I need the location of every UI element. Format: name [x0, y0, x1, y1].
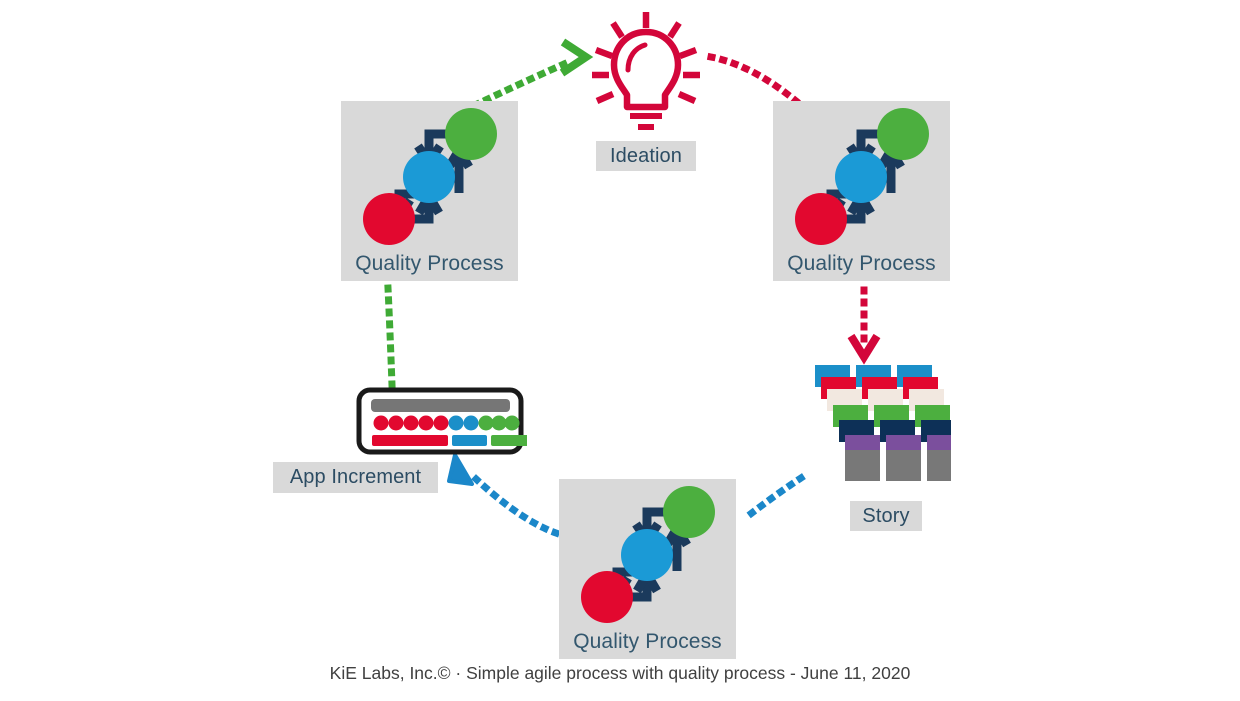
bulb-highlight [628, 45, 645, 70]
story-label: Story [850, 501, 922, 531]
quality-process-left-label: Quality Process [341, 247, 518, 281]
ray-bottom-right [679, 94, 695, 101]
node-app-increment[interactable]: App Increment [355, 386, 527, 496]
node-quality-process-right[interactable]: Quality Process [773, 101, 950, 281]
app-increment-top-bar [371, 399, 510, 412]
ray-right [680, 50, 696, 56]
story-stack-icon [806, 361, 951, 491]
connector-app-increment-to-quality-process-left [388, 288, 392, 385]
connector-quality-process-right-to-story [851, 290, 877, 357]
ideation-label: Ideation [596, 141, 696, 171]
red-circle [795, 193, 847, 245]
node-quality-process-bottom[interactable]: Quality Process [559, 479, 736, 659]
ray-top-left [613, 23, 622, 37]
node-ideation[interactable]: Ideation [586, 8, 706, 173]
lightbulb-icon [586, 8, 706, 138]
ray-top-right [670, 23, 679, 37]
blue-circle [621, 529, 673, 581]
story-row-gray [845, 450, 951, 481]
quality-process-icon [341, 101, 518, 251]
green-circle [663, 486, 715, 538]
blue-circle [835, 151, 887, 203]
red-circle [363, 193, 415, 245]
diagram-canvas: Quality Process Quality Process [0, 0, 1240, 701]
green-circle [877, 108, 929, 160]
quality-process-icon [773, 101, 950, 251]
connector-ideation-to-quality-process-right [711, 57, 796, 101]
node-quality-process-left[interactable]: Quality Process [341, 101, 518, 281]
app-increment-icon [355, 386, 527, 458]
app-increment-label: App Increment [273, 462, 438, 493]
quality-process-right-label: Quality Process [773, 247, 950, 281]
quality-process-bottom-label: Quality Process [559, 625, 736, 659]
green-circle [445, 108, 497, 160]
node-story[interactable]: Story [806, 361, 951, 536]
ray-left [596, 50, 612, 56]
quality-process-icon [559, 479, 736, 629]
red-circle [581, 571, 633, 623]
blue-circle [403, 151, 455, 203]
connector-story-to-quality-process-bottom [744, 478, 801, 519]
diagram-caption: KiE Labs, Inc.© · Simple agile process w… [0, 663, 1240, 684]
connector-quality-process-left-to-ideation [465, 42, 586, 110]
ray-bottom-left [597, 94, 613, 101]
